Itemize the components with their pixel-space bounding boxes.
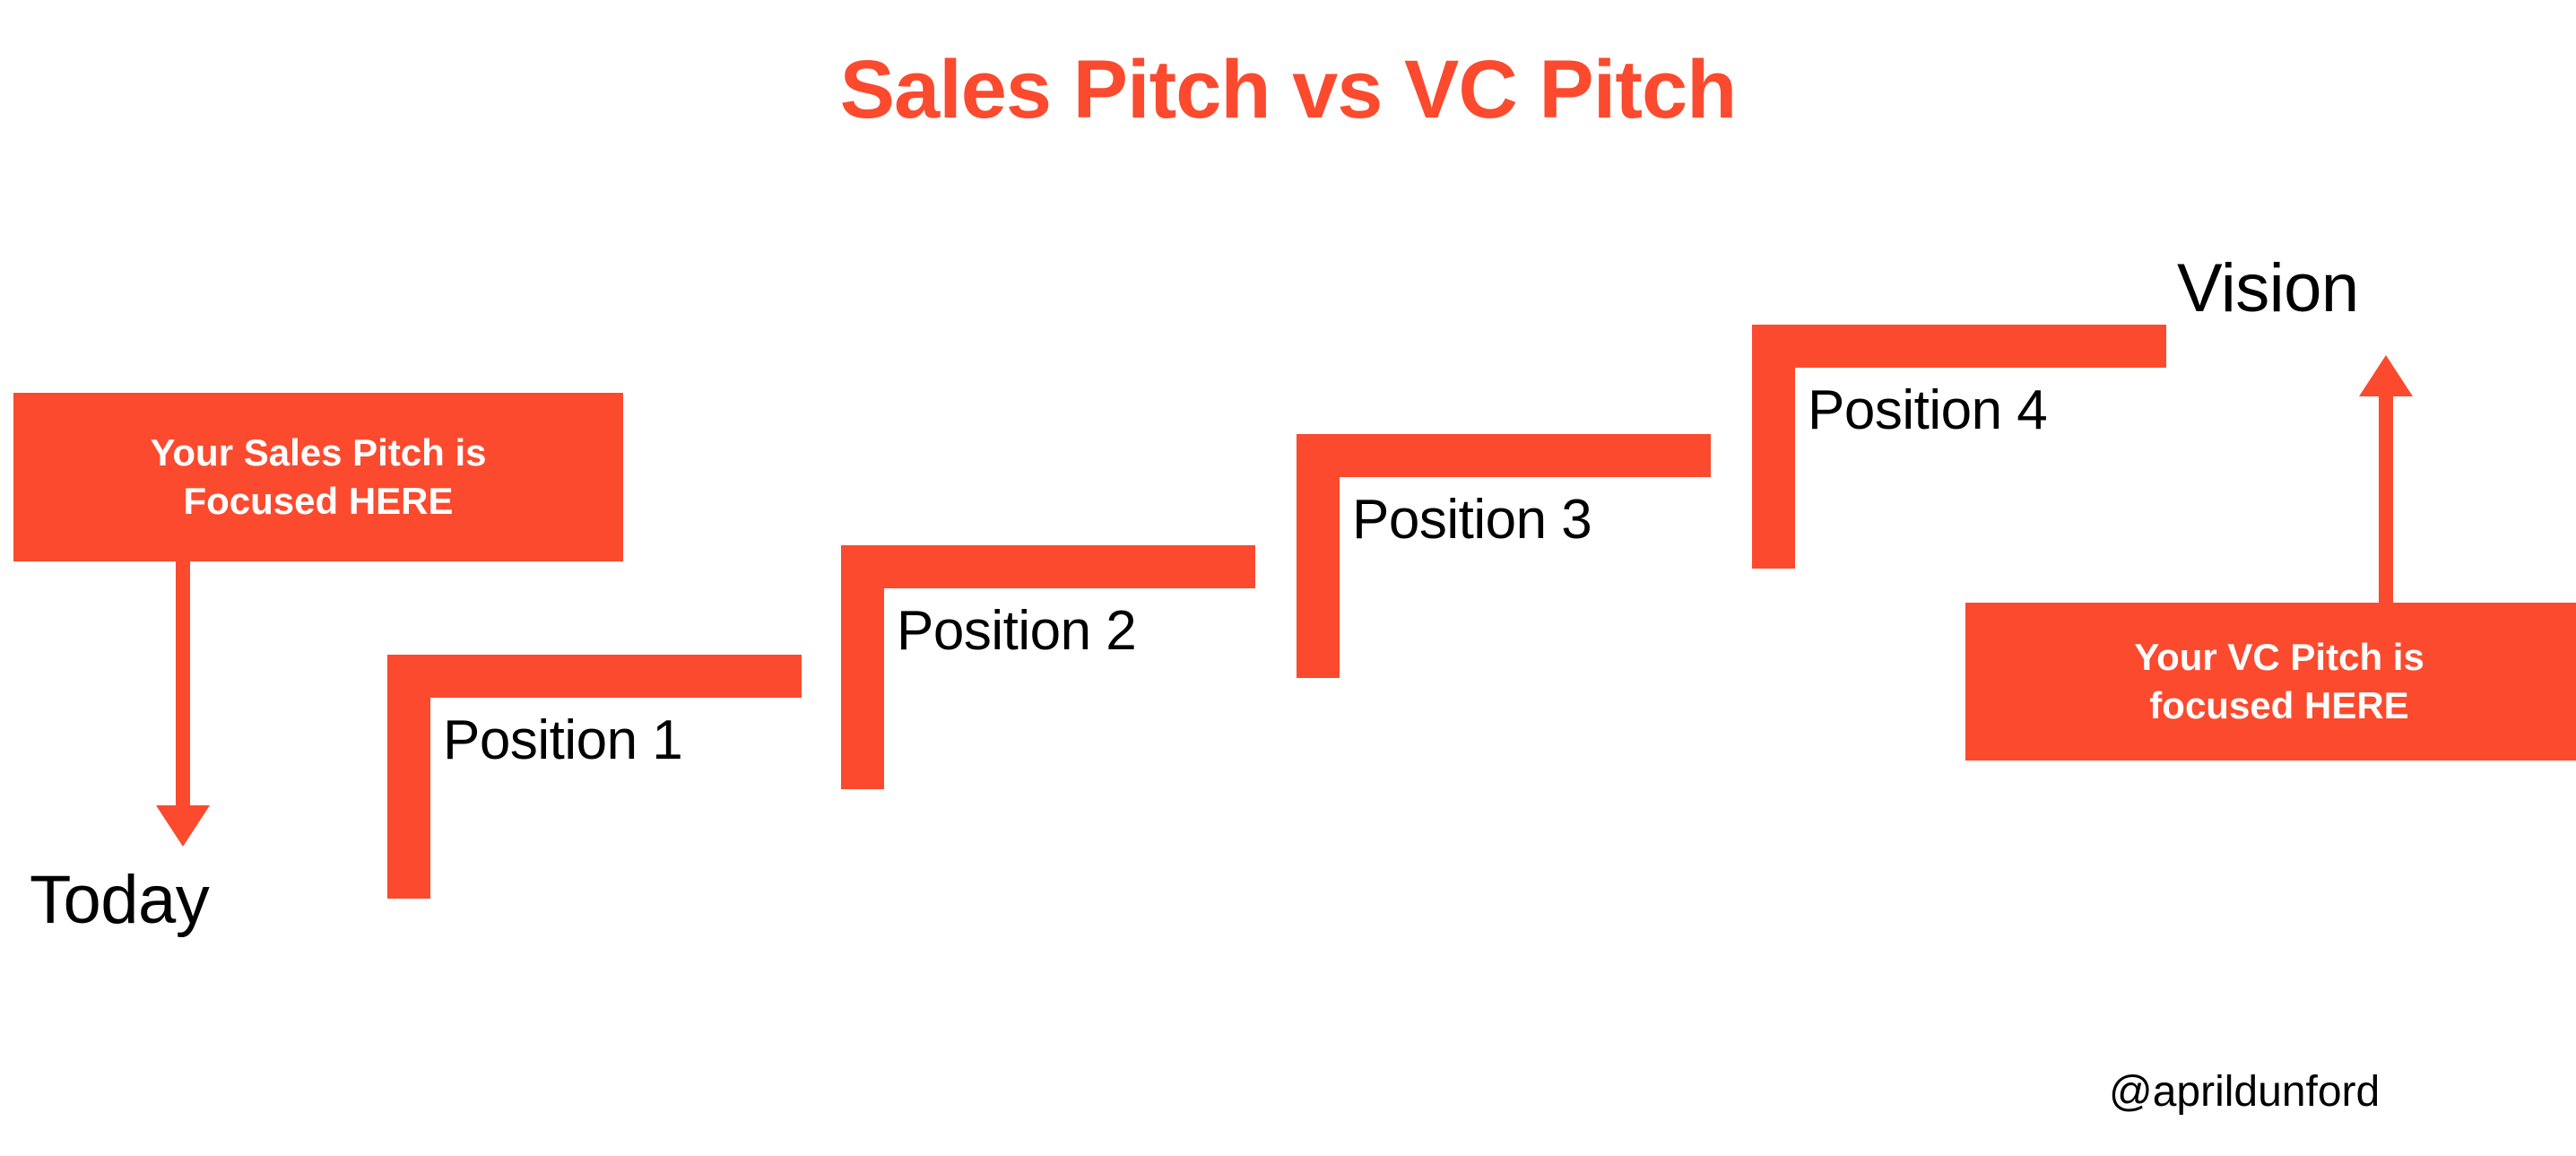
- sales-pitch-arrow-shaft: [176, 561, 190, 813]
- step-position-4: [1752, 325, 2166, 569]
- step-3-tread: [1297, 434, 1711, 477]
- vc-pitch-arrow-head-icon: [2359, 355, 2413, 396]
- callout-sales-line-2: Focused HERE: [183, 480, 453, 522]
- watermark-handle: @aprildunford: [2109, 1067, 2380, 1117]
- step-1-tread: [387, 655, 802, 698]
- callout-vc-line-1: Your VC Pitch is: [2134, 636, 2424, 678]
- step-label-position-4: Position 4: [1808, 378, 2047, 442]
- step-position-2: [841, 545, 1255, 789]
- step-2-tread: [841, 545, 1255, 588]
- callout-vc-pitch-text: Your VC Pitch is focused HERE: [2134, 633, 2424, 730]
- page-title: Sales Pitch vs VC Pitch: [0, 43, 2576, 137]
- callout-sales-pitch: Your Sales Pitch is Focused HERE: [13, 393, 623, 561]
- step-4-tread: [1752, 325, 2166, 368]
- sales-pitch-arrow-head-icon: [156, 805, 210, 847]
- callout-vc-line-2: focused HERE: [2149, 684, 2408, 726]
- step-label-position-3: Position 3: [1352, 488, 1592, 552]
- step-position-1: [387, 655, 802, 899]
- diagram-canvas: Sales Pitch vs VC Pitch Your Sales Pitch…: [0, 0, 2576, 1156]
- step-label-position-1: Position 1: [443, 708, 682, 772]
- step-label-position-2: Position 2: [897, 599, 1136, 663]
- endpoint-label-vision: Vision: [2177, 249, 2359, 327]
- callout-sales-line-1: Your Sales Pitch is: [150, 431, 486, 474]
- step-position-3: [1297, 434, 1711, 678]
- vc-pitch-arrow-shaft: [2379, 395, 2393, 606]
- endpoint-label-today: Today: [30, 861, 209, 939]
- callout-sales-pitch-text: Your Sales Pitch is Focused HERE: [150, 429, 486, 526]
- callout-vc-pitch: Your VC Pitch is focused HERE: [1965, 603, 2576, 761]
